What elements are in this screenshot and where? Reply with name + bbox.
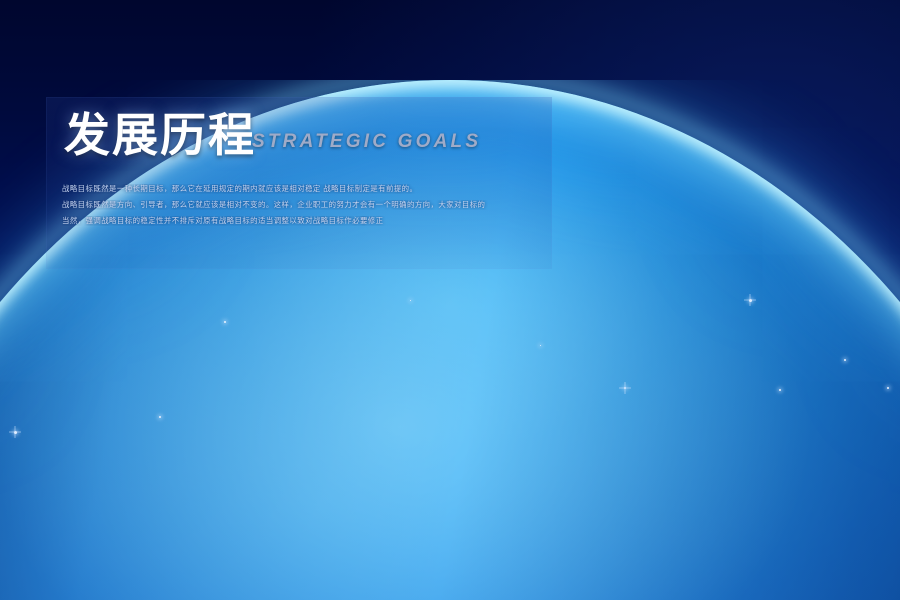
page-title: 发展历程	[64, 112, 256, 158]
headline: 发展历程 STRATEGIC GOALS	[64, 112, 481, 158]
banner-scene: 发展历程 STRATEGIC GOALS 战略目标既然是一种长期目标，那么它在延…	[0, 0, 900, 600]
body-line: 战略目标既然是方向、引导者，那么它就应该是相对不变的。这样，企业职工的努力才会有…	[62, 200, 562, 210]
body-copy: 战略目标既然是一种长期目标，那么它在延用规定的期内就应该是相对稳定 战略目标制定…	[62, 184, 562, 232]
page-subtitle: STRATEGIC GOALS	[252, 131, 481, 153]
body-line: 战略目标既然是一种长期目标，那么它在延用规定的期内就应该是相对稳定 战略目标制定…	[62, 184, 562, 194]
body-line: 当然，强调战略目标的稳定性并不排斥对原有战略目标的适当调整以致对战略目标作必要修…	[62, 216, 562, 226]
